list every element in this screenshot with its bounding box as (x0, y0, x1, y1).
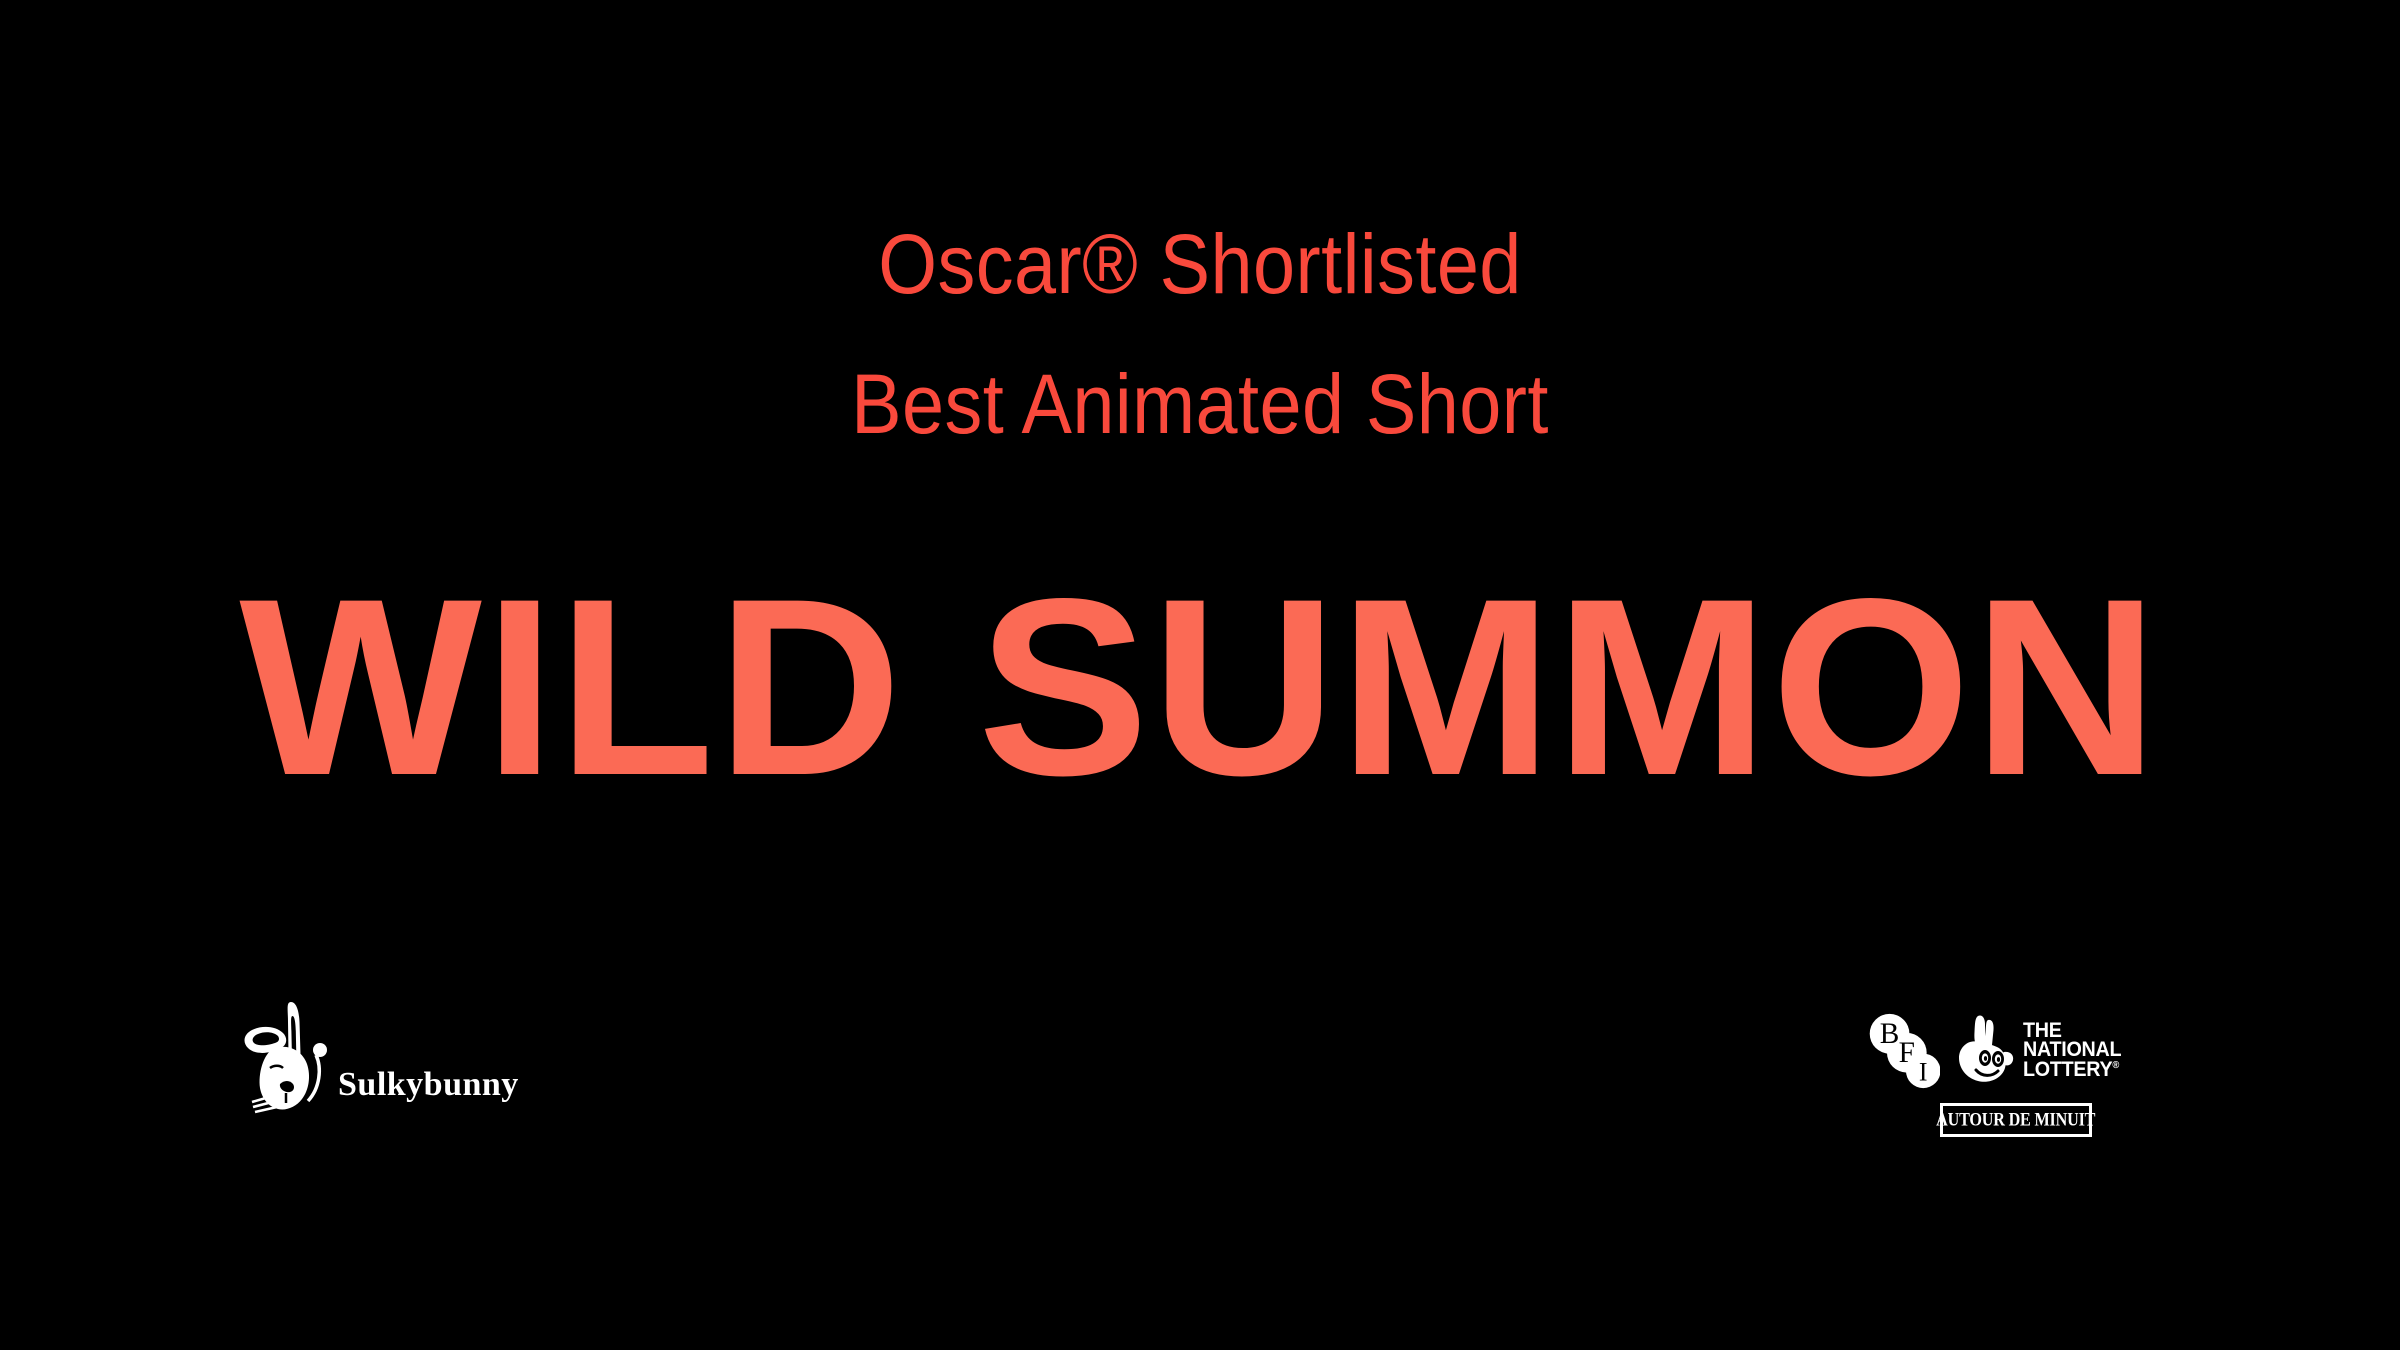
svg-text:B: B (1880, 1018, 1900, 1050)
funder-logo-row: B F I (1868, 1008, 2128, 1094)
sulkybunny-logo: Sulkybunny (236, 998, 519, 1116)
lottery-line-lottery-text: LOTTERY (2023, 1058, 2112, 1081)
rabbit-icon (236, 998, 332, 1116)
film-title: WILD SUMMON (0, 562, 2400, 814)
sulkybunny-wordmark: Sulkybunny (338, 1068, 519, 1116)
title-card: Oscar® Shortlisted Best Animated Short W… (0, 0, 2400, 1350)
svg-text:I: I (1919, 1057, 1928, 1086)
autour-de-minuit-logo: AUTOUR DE MINUIT (1940, 1103, 2092, 1137)
national-lottery-wordmark: THE NATIONAL LOTTERY® (2023, 1021, 2121, 1080)
registered-trademark-icon: ® (2113, 1060, 2120, 1071)
lottery-line-the: THE (2023, 1021, 2121, 1041)
lottery-line-lottery: LOTTERY® (2023, 1060, 2121, 1080)
bfi-logo: B F I (1868, 1008, 1940, 1094)
accolade-line-best-animated-short: Best Animated Short (120, 362, 2280, 446)
svg-text:F: F (1899, 1037, 1915, 1069)
accolade-block: Oscar® Shortlisted Best Animated Short (0, 222, 2400, 446)
funder-logos: B F I (1868, 1008, 2128, 1137)
accolade-line-oscar-shortlisted: Oscar® Shortlisted (120, 222, 2280, 306)
autour-de-minuit-text: AUTOUR DE MINUIT (1936, 1109, 2095, 1131)
national-lottery-logo: THE NATIONAL LOTTERY® (1954, 1008, 2128, 1086)
crossed-fingers-icon (1954, 1014, 2016, 1086)
autour-badge-inner-border: AUTOUR DE MINUIT (1943, 1106, 2089, 1134)
